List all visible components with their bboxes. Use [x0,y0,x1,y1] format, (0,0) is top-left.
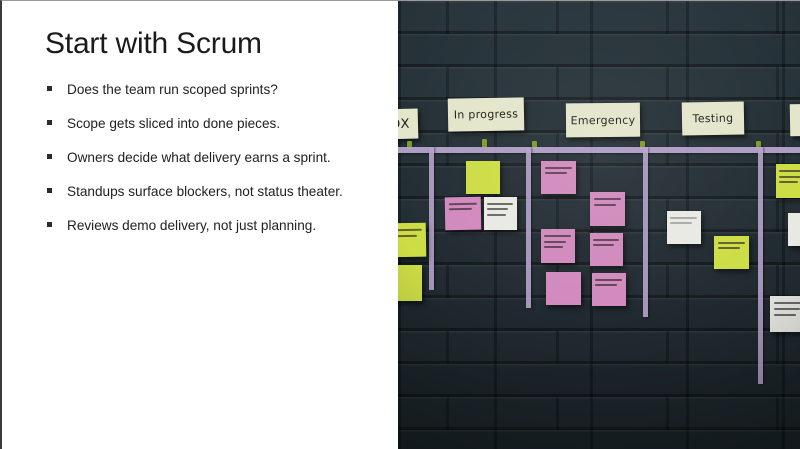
sticky-note [541,229,575,263]
column-header-card-emergency: Emergency [566,103,640,138]
note-scribble [595,279,622,281]
note-scribble [774,314,796,316]
note-scribble [487,214,505,216]
column-header-card-in-progress: In progress [448,97,525,131]
note-scribble [448,203,476,205]
note-scribble [594,204,616,206]
list-item: Owners decide what delivery earns a spri… [46,147,376,169]
column-header-card-testing: Testing [682,101,745,135]
page-title: Start with Scrum [45,27,262,61]
square-bullet-icon [47,188,52,193]
note-scribble [487,208,508,210]
square-bullet-icon [47,86,52,91]
note-scribble [593,239,619,241]
sticky-note [590,192,625,226]
tape-vertical [526,147,531,308]
column-header-label: Testing [692,112,733,126]
sticky-note [398,265,422,301]
list-item: Standups surface blockers, not status th… [46,181,376,203]
sticky-note [667,211,701,244]
note-scribble [545,172,567,174]
list-item-label: Does the team run scoped sprints? [67,82,278,97]
list-item: Reviews demo delivery, not just planning… [46,215,376,237]
note-scribble [774,302,800,304]
sticky-note [788,213,800,246]
note-scribble [670,222,692,224]
list-item: Scope gets sliced into done pieces. [46,113,376,135]
sticky-note [484,197,517,230]
slide: Start with Scrum Does the team run scope… [0,0,800,449]
sticky-note [546,272,581,305]
note-scribble [718,242,745,244]
column-header-card-dx: DX [398,109,418,140]
note-scribble [544,246,563,248]
list-item-label: Reviews demo delivery, not just planning… [67,218,316,233]
sticky-note [590,233,623,266]
sticky-note [770,296,800,332]
bullet-list: Does the team run scoped sprints? Scope … [46,79,376,249]
square-bullet-icon [47,222,52,227]
sticky-note [445,197,482,231]
tape-vertical [643,147,648,317]
square-bullet-icon [47,154,52,159]
column-header-label: In progress [454,107,519,121]
list-item-label: Standups surface blockers, not status th… [67,184,343,199]
tape-horizontal [398,147,800,153]
note-scribble [398,229,422,231]
note-scribble [779,170,800,172]
note-scribble [487,203,513,205]
note-scribble [779,181,798,183]
sticky-note [398,223,426,258]
note-scribble [718,247,740,249]
sticky-note [776,164,800,198]
list-item: Does the team run scoped sprints? [46,79,376,101]
sticky-note [541,161,576,194]
kanban-board-photo: DX In progress Emergency Testing ( [398,1,800,449]
note-scribble [544,235,571,237]
square-bullet-icon [47,120,52,125]
sticky-note [714,236,749,269]
column-header-label: Emergency [571,113,636,127]
note-scribble [595,284,617,286]
sticky-note [466,161,500,194]
note-scribble [779,176,800,178]
note-scribble [449,208,472,210]
sticky-note [592,273,626,306]
note-scribble [670,217,697,219]
note-scribble [544,241,566,243]
tape-vertical [429,147,434,290]
column-header-card-partial-right: ( [790,104,800,137]
note-scribble [545,167,572,169]
note-scribble [774,308,800,310]
note-scribble [398,234,417,236]
text-panel: Start with Scrum Does the team run scope… [2,1,398,449]
column-header-label: DX [398,116,410,132]
tape-vertical [758,147,763,384]
note-scribble [593,244,614,246]
list-item-label: Owners decide what delivery earns a spri… [67,150,331,165]
list-item-label: Scope gets sliced into done pieces. [67,116,280,131]
note-scribble [594,198,621,200]
